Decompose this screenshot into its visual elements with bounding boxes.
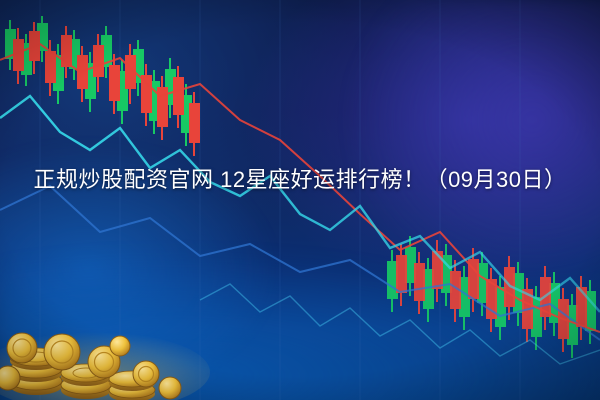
overlay-headline-text: 正规炒股配资官网 12星座好运排行榜！（09月30日） <box>0 160 600 200</box>
image-canvas: 正规炒股配资官网 12星座好运排行榜！（09月30日） <box>0 0 600 400</box>
gold-coins-illustration <box>0 290 230 400</box>
